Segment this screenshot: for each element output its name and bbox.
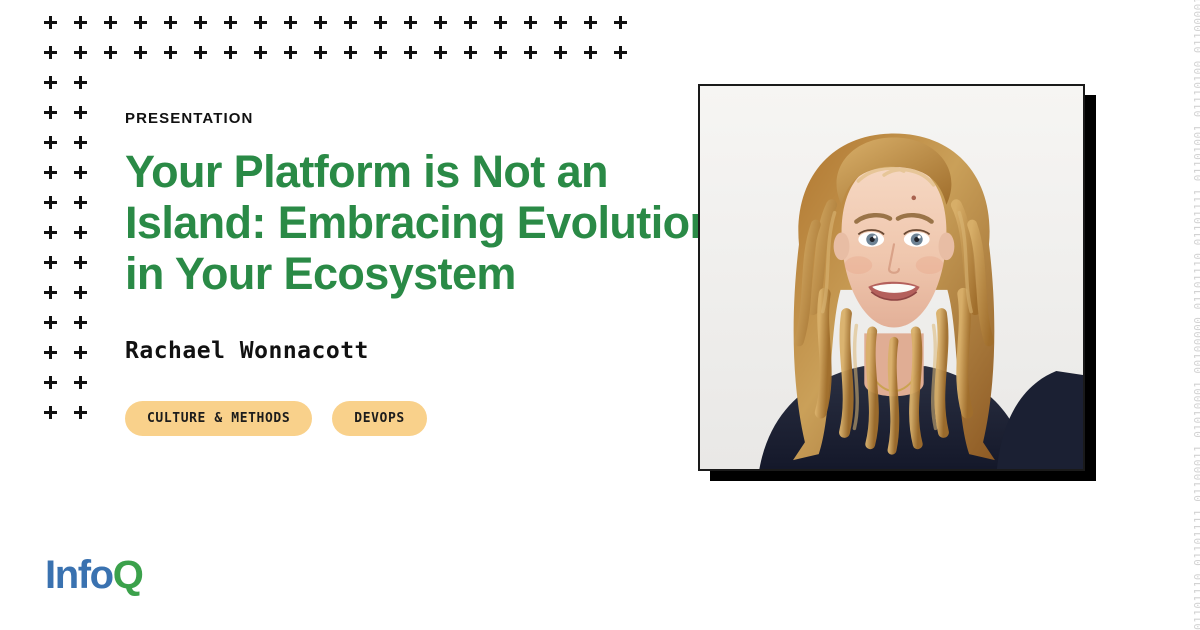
plus-icon [490, 8, 520, 38]
plus-icon [310, 8, 340, 38]
plus-icon [40, 68, 70, 98]
plus-icon [610, 8, 640, 38]
plus-icon [220, 8, 250, 38]
plus-icon [490, 38, 520, 68]
plus-icon [70, 248, 100, 278]
plus-icon [370, 8, 400, 38]
plus-icon [130, 8, 160, 38]
plus-icon [70, 218, 100, 248]
plus-icon [40, 158, 70, 188]
logo-q-text: Q [113, 553, 143, 597]
plus-icon [40, 218, 70, 248]
plus-row [40, 68, 640, 98]
plus-icon [340, 38, 370, 68]
page-title[interactable]: Your Platform is Not an Island: Embracin… [125, 146, 725, 299]
plus-icon [40, 338, 70, 368]
plus-icon [580, 38, 610, 68]
presentation-card: 01101110 01101111 01100011 01010001 0010… [0, 0, 1200, 630]
plus-icon [70, 398, 100, 428]
plus-icon [40, 8, 70, 38]
plus-icon [580, 8, 610, 38]
plus-icon [130, 38, 160, 68]
plus-icon [190, 38, 220, 68]
logo-info-text: Info [45, 553, 113, 597]
plus-icon [430, 8, 460, 38]
plus-icon [460, 8, 490, 38]
plus-icon [70, 68, 100, 98]
tag-culture-methods[interactable]: CULTURE & METHODS [125, 401, 312, 436]
plus-icon [40, 368, 70, 398]
plus-icon [40, 188, 70, 218]
plus-icon [70, 128, 100, 158]
plus-icon [280, 8, 310, 38]
plus-icon [400, 8, 430, 38]
plus-icon [40, 38, 70, 68]
plus-icon [430, 38, 460, 68]
plus-icon [40, 278, 70, 308]
speaker-name[interactable]: Rachael Wonnacott [125, 337, 745, 365]
portrait-image [700, 86, 1083, 469]
plus-icon [160, 8, 190, 38]
infoq-logo[interactable]: InfoQ [45, 553, 142, 597]
plus-row [40, 38, 640, 68]
binary-strip-decoration: 01101110 01101111 01100011 01010001 0010… [1170, 0, 1200, 630]
plus-icon [190, 8, 220, 38]
tag-devops[interactable]: DEVOPS [332, 401, 427, 436]
plus-icon [550, 8, 580, 38]
plus-icon [40, 128, 70, 158]
speaker-photo [698, 84, 1085, 471]
plus-icon [70, 98, 100, 128]
plus-icon [70, 158, 100, 188]
plus-icon [70, 8, 100, 38]
plus-icon [40, 308, 70, 338]
plus-icon [370, 38, 400, 68]
plus-icon [70, 368, 100, 398]
plus-icon [520, 38, 550, 68]
plus-icon [310, 38, 340, 68]
plus-icon [340, 8, 370, 38]
plus-icon [100, 8, 130, 38]
plus-icon [220, 38, 250, 68]
plus-icon [70, 38, 100, 68]
plus-icon [250, 8, 280, 38]
tag-list: CULTURE & METHODS DEVOPS [125, 401, 745, 436]
plus-row [40, 8, 640, 38]
plus-icon [550, 38, 580, 68]
plus-icon [40, 398, 70, 428]
plus-icon [100, 38, 130, 68]
card-content: PRESENTATION Your Platform is Not an Isl… [125, 110, 745, 436]
binary-text: 01101110 01101111 01100011 01010001 0010… [1192, 0, 1200, 630]
content-type-label: PRESENTATION [125, 110, 745, 128]
plus-icon [70, 188, 100, 218]
plus-icon [400, 38, 430, 68]
plus-icon [250, 38, 280, 68]
plus-icon [40, 98, 70, 128]
plus-icon [40, 248, 70, 278]
plus-icon [610, 38, 640, 68]
plus-icon [70, 278, 100, 308]
plus-icon [70, 338, 100, 368]
plus-icon [460, 38, 490, 68]
plus-icon [280, 38, 310, 68]
plus-icon [160, 38, 190, 68]
plus-icon [520, 8, 550, 38]
plus-icon [70, 308, 100, 338]
